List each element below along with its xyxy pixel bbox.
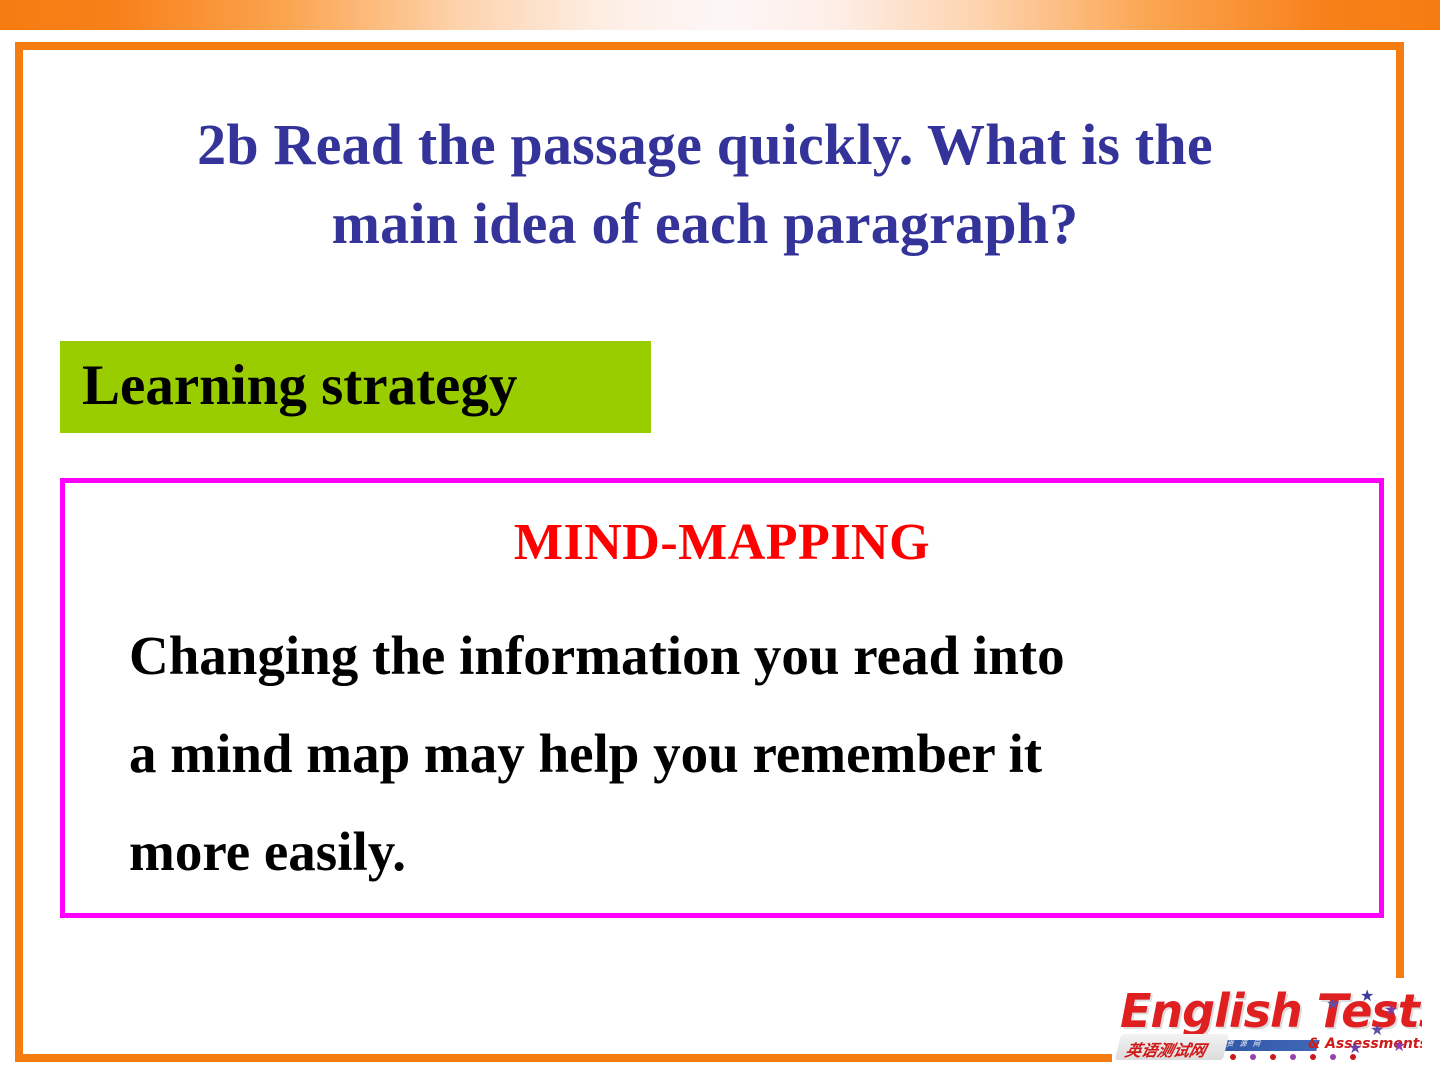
mind-mapping-heading: MIND-MAPPING — [65, 513, 1379, 572]
slide: 2b Read the passage quickly. What is the… — [0, 0, 1440, 1080]
strategy-body-line-2: a mind map may help you remember it — [129, 705, 1369, 803]
page-title-line-1: 2b Read the passage quickly. What is the — [197, 112, 1213, 177]
top-gradient-banner — [0, 0, 1440, 30]
strategy-body-text: Changing the information you read into a… — [129, 607, 1369, 901]
english-tests-logo: English Tests 英 语 测 试 资 源 网 英语测试网 & Asse… — [1112, 978, 1422, 1074]
page-title-line-2: main idea of each paragraph? — [55, 185, 1355, 264]
strategy-body-line-1: Changing the information you read into — [129, 607, 1369, 705]
page-title: 2b Read the passage quickly. What is the… — [55, 106, 1355, 264]
learning-strategy-label-text: Learning strategy — [82, 353, 517, 418]
learning-strategy-label: Learning strategy — [60, 341, 651, 433]
strategy-callout-box: MIND-MAPPING Changing the information yo… — [60, 478, 1384, 918]
strategy-body-line-3: more easily. — [129, 803, 1369, 901]
logo-badge-text: 英语测试网 — [1123, 1037, 1209, 1061]
